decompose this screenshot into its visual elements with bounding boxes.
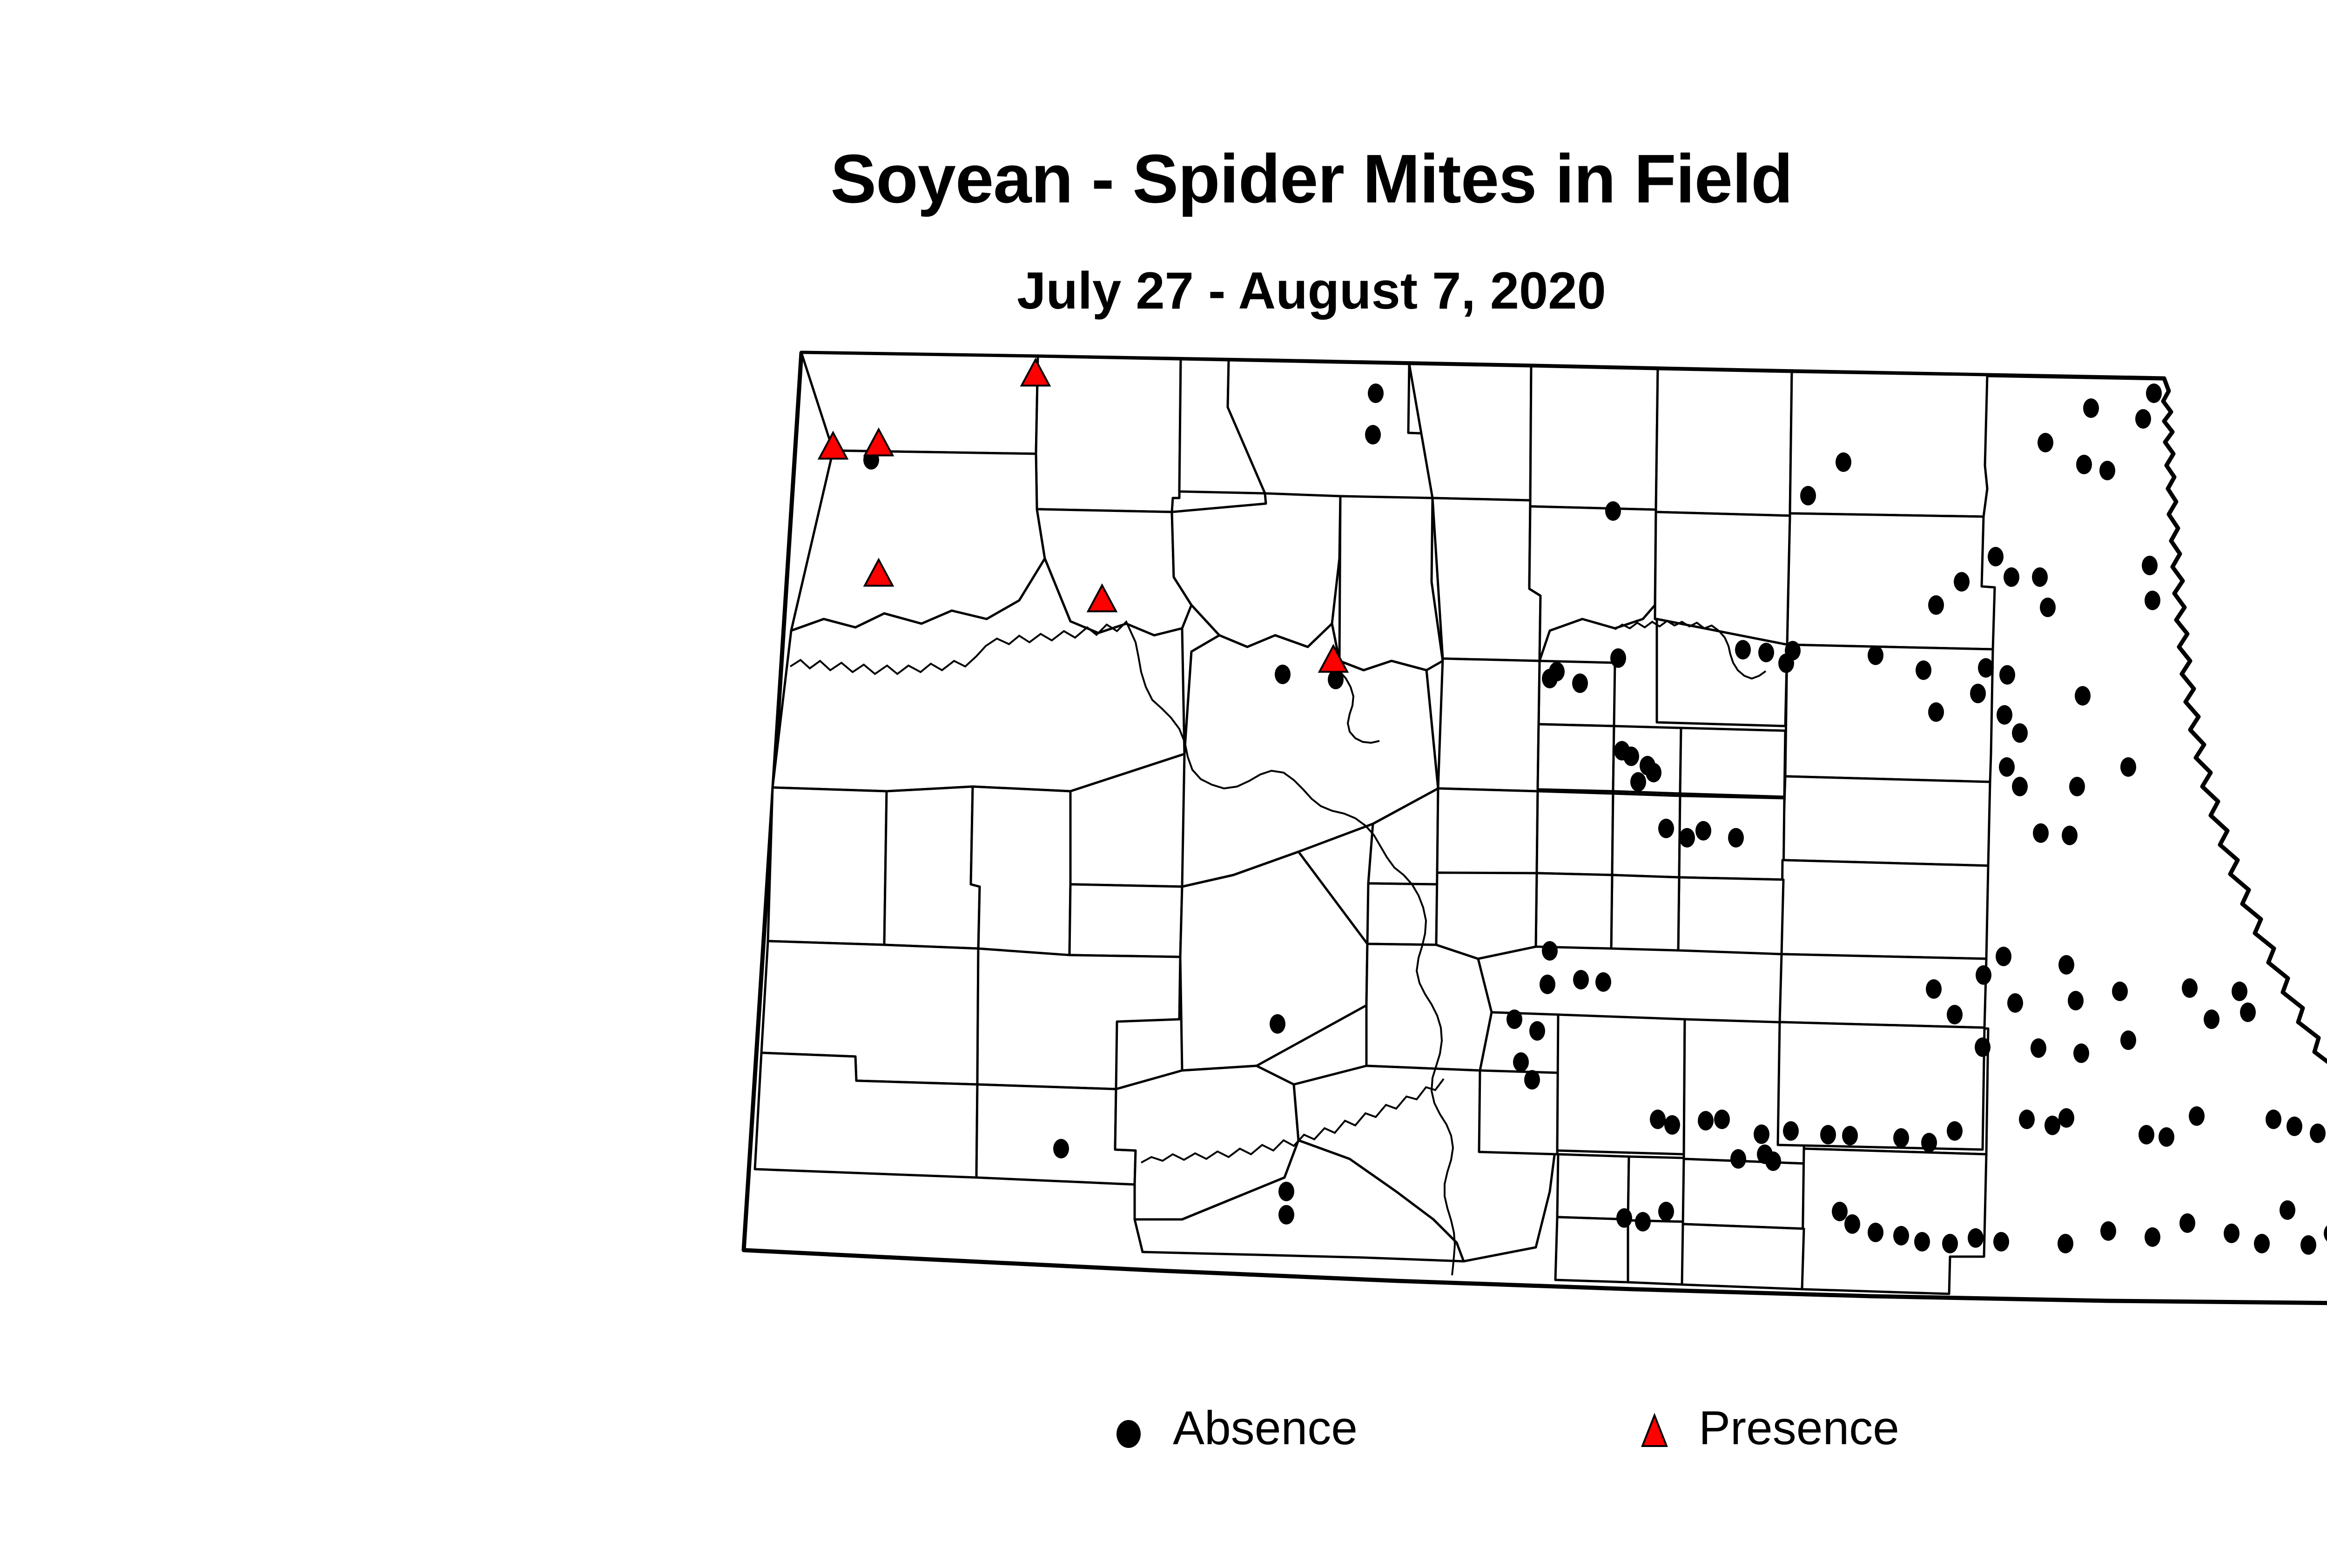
absence-marker [1800, 486, 1816, 505]
absence-marker [2182, 978, 2198, 998]
absence-marker [2204, 1009, 2219, 1029]
absence-marker [2310, 1124, 2326, 1143]
absence-marker [1610, 648, 1626, 668]
absence-marker [2142, 556, 2158, 575]
absence-marker [2145, 1227, 2160, 1247]
absence-marker [2189, 1106, 2205, 1126]
legend-item-presence: Presence [1634, 1401, 1899, 1455]
absence-marker [2004, 567, 2019, 587]
absence-marker [2100, 1221, 2116, 1241]
absence-marker [2232, 982, 2247, 1001]
legend-item-absence: Absence [1108, 1401, 1358, 1455]
county-cass-n [1782, 860, 1988, 959]
absence-marker [1368, 384, 1384, 403]
absence-marker [1996, 947, 2011, 966]
absence-marker [1270, 1014, 1285, 1034]
absence-marker [1572, 673, 1588, 693]
absence-marker [1695, 821, 1711, 841]
absence-marker [2012, 777, 2028, 796]
black-circle-marker-icon [1108, 1405, 1150, 1452]
absence-marker [2076, 455, 2092, 474]
county-cavalier [1656, 369, 1792, 516]
absence-marker [1605, 501, 1621, 521]
absence-marker [2075, 686, 2091, 706]
absence-marker [2038, 433, 2053, 452]
absence-marker [1988, 547, 2004, 566]
county-williams [791, 451, 1045, 631]
absence-marker [1635, 1212, 1651, 1232]
absence-marker [1999, 757, 2015, 777]
absence-marker [1506, 1009, 1522, 1029]
absence-marker [1968, 1228, 1984, 1248]
absence-marker [2280, 1200, 2295, 1220]
absence-marker [2062, 826, 2078, 845]
county-stutsman-n2 [1611, 875, 1679, 950]
absence-marker [1921, 1133, 1937, 1152]
absence-marker [1926, 979, 1942, 999]
absence-marker [1844, 1214, 1860, 1234]
county-sargent [1682, 1224, 1804, 1289]
absence-marker [1630, 772, 1646, 792]
absence-marker [1646, 763, 1661, 782]
absence-marker [2120, 757, 2136, 777]
absence-marker [1993, 1232, 2009, 1252]
county-lamoure [1628, 1157, 1685, 1222]
county-wells-s [1537, 791, 1613, 875]
absence-marker [2135, 409, 2151, 429]
absence-marker [1914, 1232, 1930, 1252]
absence-marker [2012, 723, 2028, 743]
absence-marker [1832, 1202, 1848, 1221]
absence-marker [1893, 1226, 1909, 1245]
absence-marker [1836, 452, 1851, 472]
absence-marker [1616, 1208, 1632, 1228]
county-mchenry [1339, 496, 1443, 670]
absence-marker [1947, 1005, 1963, 1024]
absence-marker [2033, 823, 2049, 843]
absence-marker [1664, 1115, 1680, 1135]
absence-marker [2266, 1110, 2281, 1129]
absence-marker [1730, 1149, 1746, 1169]
county-mcintosh [1555, 1217, 1629, 1282]
absence-marker [2287, 1117, 2302, 1136]
absence-marker [1970, 684, 1986, 703]
north-dakota-county-map [0, 0, 2327, 1568]
legend-label-absence: Absence [1173, 1401, 1358, 1455]
county-pembina [1790, 372, 1987, 517]
absence-marker [2068, 991, 2084, 1010]
county-kidder-n [1536, 873, 1612, 949]
absence-marker [1714, 1110, 1730, 1129]
county-ransom [1683, 1159, 1805, 1229]
absence-marker [1275, 665, 1291, 684]
county-burke [1036, 357, 1181, 512]
county-stutsman [1557, 1015, 1685, 1154]
absence-marker [1365, 425, 1381, 444]
county-sheridan [1437, 788, 1538, 875]
absence-marker [2224, 1224, 2240, 1243]
absence-marker [1278, 1182, 1294, 1201]
absence-marker [1754, 1124, 1769, 1144]
absence-marker [2240, 1003, 2256, 1022]
county-foster [1538, 724, 1614, 791]
absence-marker [2146, 384, 2162, 403]
absence-marker [2069, 777, 2085, 796]
county-burleigh-n [1436, 873, 1537, 959]
absence-marker [1868, 646, 1883, 665]
county-traill [1782, 776, 1990, 866]
county-stark [971, 787, 1070, 955]
absence-marker [1278, 1205, 1294, 1225]
absence-marker [1595, 972, 1611, 992]
absence-marker [1650, 1110, 1666, 1129]
absence-marker [1658, 819, 1674, 838]
county-oliver [1367, 883, 1437, 945]
absence-marker [2099, 461, 2115, 480]
absence-marker [1997, 705, 2012, 725]
absence-marker [1765, 1151, 1781, 1171]
absence-marker [1524, 1070, 1540, 1090]
absence-marker [2112, 982, 2128, 1001]
map-page: Soyean - Spider Mites in Field July 27 -… [0, 0, 2327, 1568]
absence-marker [1868, 1223, 1883, 1242]
county-burleigh [1366, 944, 1492, 1070]
absence-marker [2179, 1213, 2195, 1233]
absence-marker [2073, 1043, 2089, 1063]
county-pierce [1433, 498, 1540, 661]
absence-marker [2139, 1125, 2154, 1144]
absence-marker [2045, 1116, 2060, 1135]
absence-marker [1785, 641, 1801, 660]
absence-marker [2300, 1235, 2316, 1255]
absence-marker [1942, 1234, 1958, 1253]
county-dickey [1628, 1220, 1684, 1285]
county-wells [1438, 659, 1540, 791]
absence-marker [2083, 398, 2099, 418]
absence-marker [1540, 975, 1555, 994]
county-boundaries [744, 353, 2327, 1303]
absence-marker [1679, 828, 1695, 848]
absence-marker [2019, 1110, 2035, 1129]
county-kidder [1479, 1070, 1558, 1154]
absence-marker [1542, 941, 1558, 961]
absence-marker [2254, 1234, 2270, 1253]
absence-marker [1623, 747, 1639, 766]
map-legend: Absence Presence [1108, 1401, 2038, 1475]
absence-marker [1758, 643, 1774, 662]
absence-marker [1976, 965, 1991, 985]
absence-marker [1513, 1052, 1529, 1072]
absence-marker [1954, 572, 1970, 592]
county-goldenvalley [768, 787, 887, 945]
absence-marker [2040, 598, 2056, 617]
absence-marker [1735, 640, 1751, 660]
absence-marker [1947, 1121, 1963, 1141]
absence-marker [1053, 1139, 1069, 1158]
absence-marker [1978, 658, 1994, 678]
absence-marker [2007, 993, 2023, 1013]
absence-marker [1893, 1128, 1909, 1148]
absence-marker [2159, 1127, 2174, 1147]
county-towner [1530, 366, 1658, 510]
county-barnes-n2 [1678, 877, 1783, 954]
county-adams [976, 1084, 1136, 1184]
county-billings [884, 787, 980, 949]
absence-marker [1916, 660, 1931, 680]
absence-marker [1999, 665, 2015, 685]
red-triangle-marker-icon [1634, 1405, 1675, 1452]
absence-marker [1728, 828, 1744, 848]
absence-marker [2058, 1108, 2074, 1128]
absence-marker [1975, 1037, 1991, 1057]
county-logan [1557, 1154, 1629, 1219]
absence-marker [1842, 1126, 1858, 1145]
absence-marker [1928, 595, 1944, 615]
county-dunn-s [1069, 884, 1182, 957]
absence-marker [1820, 1125, 1836, 1144]
absence-marker [2145, 591, 2160, 610]
absence-marker [1698, 1111, 1714, 1131]
absence-marker [1573, 970, 1589, 989]
county-grandforks [1785, 645, 1993, 782]
absence-marker [1542, 669, 1558, 688]
legend-label-presence: Presence [1699, 1401, 1899, 1455]
county-steele [1680, 728, 1785, 797]
absence-marker [1783, 1121, 1799, 1141]
absence-marker [2031, 1038, 2046, 1058]
absence-marker [2058, 1234, 2073, 1253]
absence-marker [2058, 955, 2074, 975]
absence-marker [1529, 1021, 1545, 1041]
absence-marker [1928, 702, 1944, 722]
absence-marker [2120, 1030, 2136, 1050]
absence-marker [2032, 567, 2048, 587]
absence-marker [1658, 1202, 1674, 1221]
